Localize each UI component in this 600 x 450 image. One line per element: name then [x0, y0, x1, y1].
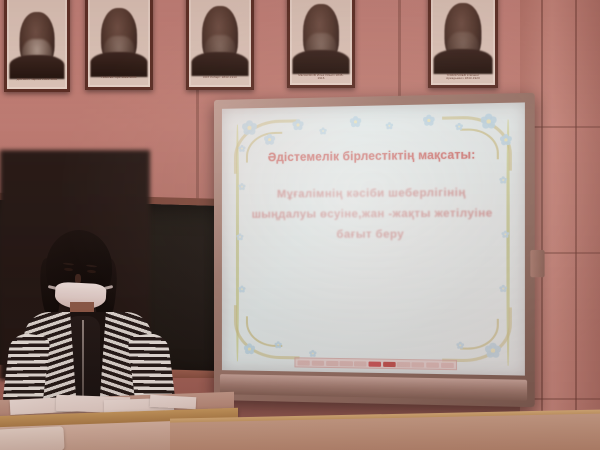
toolbar-button-1[interactable]: [297, 360, 310, 365]
portrait-caption: ТИМИРЯЗЕВ Климент Аркадьевич 1843-1920: [437, 74, 488, 83]
flower-icon: [386, 123, 392, 129]
toolbar-stop-button[interactable]: [383, 361, 396, 366]
flower-icon: [292, 119, 303, 130]
paper-sheet: [150, 395, 197, 409]
toolbar-button-8[interactable]: [397, 361, 410, 366]
flower-icon: [264, 134, 275, 145]
portrait-caption: МЕЧНИКОВ Илья Ильич 1845-1916: [296, 74, 346, 83]
flower-icon: [423, 115, 435, 127]
toolbar-button-4[interactable]: [340, 361, 353, 366]
foreground-object: [0, 426, 65, 450]
portrait-frame-5: ТИМИРЯЗЕВ Климент Аркадьевич 1843-1920: [428, 0, 498, 88]
flower-icon: [239, 146, 245, 152]
flower-icon: [242, 120, 257, 135]
projected-slide[interactable]: Әдістемелік бірлестіктің мақсаты: Мұғалі…: [222, 102, 525, 375]
portrait-shoulders: [90, 52, 147, 76]
portrait-shoulders: [191, 52, 248, 77]
jamb-edge: [575, 0, 577, 450]
wall-mount-bracket: [530, 250, 544, 277]
portrait-frame-2: ПАСТЕР Луи 1822-1895: [85, 0, 153, 90]
slide-body: Мұғалімнің кәсіби шеберлігінің шыңдалуы …: [222, 182, 525, 245]
portrait-shoulders: [434, 49, 493, 74]
flower-icon: [457, 342, 463, 348]
classroom-photo: ДАРВИН Чарльз 1809-1882 ПАСТЕР Луи 1822-…: [0, 0, 600, 450]
flower-icon: [500, 134, 512, 146]
flower-icon: [244, 343, 255, 354]
projected-toolbar[interactable]: [294, 357, 457, 370]
slide-body-line-2: шыңдалуы өсуіне,жан -жақты жетілуіне бағ…: [248, 203, 497, 245]
toolbar-record-button[interactable]: [368, 361, 381, 366]
portrait-frame-1: ДАРВИН Чарльз 1809-1882: [4, 0, 70, 92]
slide-body-line-1: Мұғалімнің кәсіби шеберлігінің: [277, 187, 466, 201]
toolbar-button-5[interactable]: [354, 361, 367, 366]
portrait-frame-4: МЕЧНИКОВ Илья Ильич 1845-1916: [287, 0, 355, 88]
jamb-edge: [541, 0, 543, 450]
flower-icon: [481, 114, 497, 130]
portrait-frame-3: КОХ Роберт 1843-1910: [186, 0, 254, 90]
flower-icon: [500, 286, 506, 292]
flower-icon: [239, 286, 245, 292]
portrait-caption: ДАРВИН Чарльз 1809-1882: [13, 78, 61, 87]
toolbar-button-9[interactable]: [412, 362, 425, 367]
portrait-shoulders: [9, 55, 64, 79]
flower-icon: [456, 124, 462, 130]
toolbar-button-3[interactable]: [326, 360, 339, 365]
toolbar-button-10[interactable]: [426, 362, 439, 367]
toolbar-button-2[interactable]: [312, 360, 325, 365]
flower-icon: [485, 343, 501, 359]
interactive-whiteboard[interactable]: Әдістемелік бірлестіктің мақсаты: Мұғалі…: [214, 93, 535, 407]
flower-icon: [350, 116, 361, 127]
portrait-shoulders: [292, 50, 349, 75]
flower-icon: [310, 351, 316, 357]
flower-icon: [275, 342, 281, 348]
portrait-caption: ПАСТЕР Луи 1822-1895: [94, 76, 144, 85]
toolbar-button-11[interactable]: [441, 362, 454, 367]
flower-icon: [320, 128, 326, 134]
portrait-caption: КОХ Роберт 1843-1910: [195, 76, 245, 85]
